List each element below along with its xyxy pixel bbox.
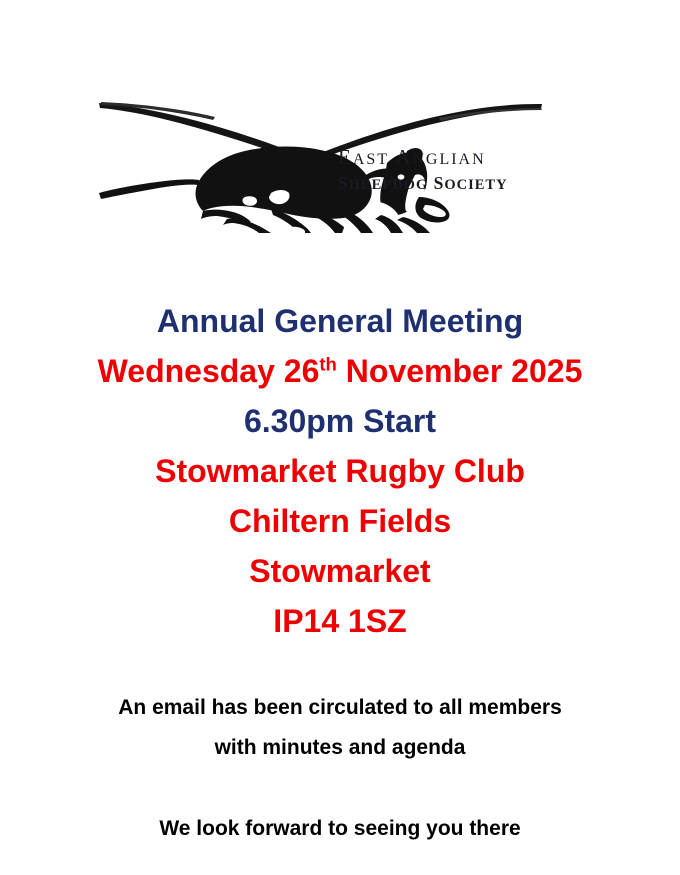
note-closing: We look forward to seeing you there: [0, 809, 680, 849]
heading-annual-general-meeting: Annual General Meeting: [0, 296, 680, 346]
meeting-details: Annual General Meeting Wednesday 26th No…: [0, 296, 680, 646]
heading-start-time: 6.30pm Start: [0, 396, 680, 446]
note-email-line-1: An email has been circulated to all memb…: [0, 688, 680, 728]
heading-date-prefix: Wednesday 26: [98, 353, 320, 389]
logo-wordmark-line-1: EAST ANGLIAN: [338, 147, 548, 168]
heading-venue-town: Stowmarket: [0, 546, 680, 596]
heading-date-ordinal-suffix: th: [319, 353, 337, 374]
heading-venue-name: Stowmarket Rugby Club: [0, 446, 680, 496]
heading-date-suffix: November 2025: [337, 353, 582, 389]
heading-date: Wednesday 26th November 2025: [0, 346, 680, 396]
logo-wordmark: EAST ANGLIAN SHEEPDOG SOCIETY: [338, 147, 548, 193]
heading-venue-postcode: IP14 1SZ: [0, 596, 680, 646]
notice-footer: An email has been circulated to all memb…: [0, 688, 680, 849]
heading-venue-street: Chiltern Fields: [0, 496, 680, 546]
society-logo: EAST ANGLIAN SHEEPDOG SOCIETY: [95, 85, 545, 233]
note-email-line-2: with minutes and agenda: [0, 728, 680, 768]
logo-wordmark-line-2: SHEEPDOG SOCIETY: [338, 175, 548, 193]
